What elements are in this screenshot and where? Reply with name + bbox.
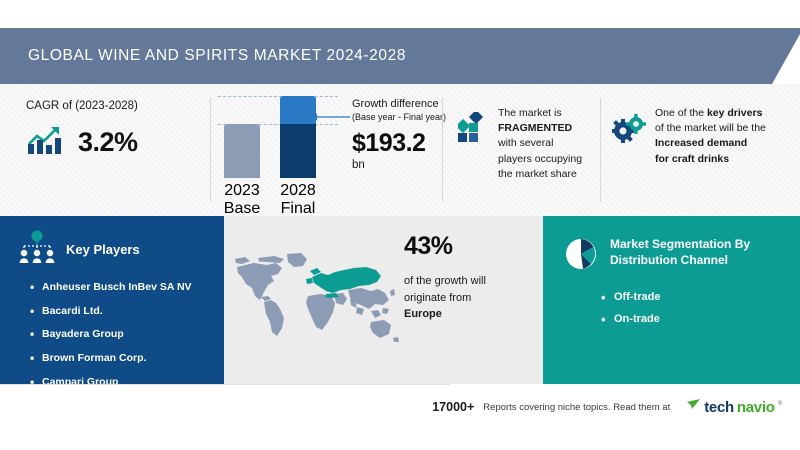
growth-unit: bn (352, 159, 470, 171)
fragmented-block: The market is FRAGMENTED with several pl… (458, 106, 608, 182)
divider-1 (210, 98, 211, 202)
europe-growth-stat: 43% of the growth will originate from Eu… (404, 232, 532, 323)
gridline-top (218, 96, 338, 97)
growth-difference-callout: Growth difference (Base year - Final yea… (352, 98, 470, 171)
divider-2 (442, 98, 443, 202)
page-title: GLOBAL WINE AND SPIRITS MARKET 2024-2028 (0, 47, 406, 65)
bar-segment-base (224, 124, 260, 178)
segmentation-header: Market Segmentation By Distribution Chan… (543, 216, 800, 277)
footer-divider (0, 384, 450, 385)
footer: 17000+ Reports covering niche topics. Re… (0, 384, 800, 450)
cagr-value: 3.2% (78, 127, 138, 158)
logo-text-navio: navio (737, 399, 775, 416)
growth-value: $193.2 (352, 129, 470, 158)
list-item: Anheuser Busch InBev SA NV (30, 281, 224, 295)
list-item: On-trade (601, 313, 800, 325)
gears-icon (612, 114, 646, 149)
key-players-header: Key Players (0, 216, 224, 269)
list-item: Brown Forman Corp. (30, 352, 224, 366)
world-map-europe-highlight (228, 232, 408, 369)
key-players-panel: Key Players Anheuser Busch InBev SA NV B… (0, 216, 224, 384)
technavio-arrow-icon (687, 398, 701, 416)
key-drivers-block: One of the key drivers of the market wil… (612, 106, 790, 167)
growth-title: Growth difference (352, 98, 470, 112)
panels-band: Key Players Anheuser Busch InBev SA NV B… (0, 216, 800, 384)
bar-segment-final-base (280, 124, 316, 178)
stats-band: CAGR of (2023-2028) 3.2% (0, 84, 800, 216)
segmentation-list: Off-trade On-trade (601, 291, 800, 325)
pie-chart-icon (563, 236, 599, 277)
header-banner: GLOBAL WINE AND SPIRITS MARKET 2024-2028 (0, 28, 800, 84)
market-segmentation-panel: Market Segmentation By Distribution Chan… (543, 216, 800, 384)
reports-count: 17000+ (432, 400, 474, 414)
key-players-list: Anheuser Busch InBev SA NV Bacardi Ltd. … (30, 281, 224, 389)
list-item: Bacardi Ltd. (30, 305, 224, 319)
footer-text: Reports covering niche topics. Read them… (483, 402, 670, 413)
logo-text-tech: tech (704, 399, 734, 416)
infographic-canvas: GLOBAL WINE AND SPIRITS MARKET 2024-2028… (0, 0, 800, 450)
cagr-label: CAGR of (2023-2028) (26, 100, 212, 112)
fragmented-squares-icon (458, 112, 488, 149)
europe-description: of the growth will originate from Europe (404, 273, 532, 323)
growth-subtitle: (Base year - Final year) (352, 112, 470, 124)
list-item: Off-trade (601, 291, 800, 303)
europe-percent: 43% (404, 232, 532, 261)
trademark-symbol: ® (778, 401, 782, 407)
fragmented-text: The market is FRAGMENTED with several pl… (498, 106, 582, 182)
bar-base-year (224, 124, 260, 178)
key-drivers-text: One of the key drivers of the market wil… (655, 106, 766, 167)
segmentation-title: Market Segmentation By Distribution Chan… (610, 236, 750, 268)
key-players-title: Key Players (66, 242, 140, 257)
growth-bar-chart-icon (26, 124, 66, 161)
org-chart-people-icon (18, 230, 56, 269)
technavio-logo[interactable]: tech navio ® (687, 398, 782, 416)
divider-3 (600, 98, 601, 202)
list-item: Bayadera Group (30, 328, 224, 342)
cagr-block: CAGR of (2023-2028) 3.2% (26, 100, 212, 161)
callout-arrow-icon (308, 108, 350, 116)
